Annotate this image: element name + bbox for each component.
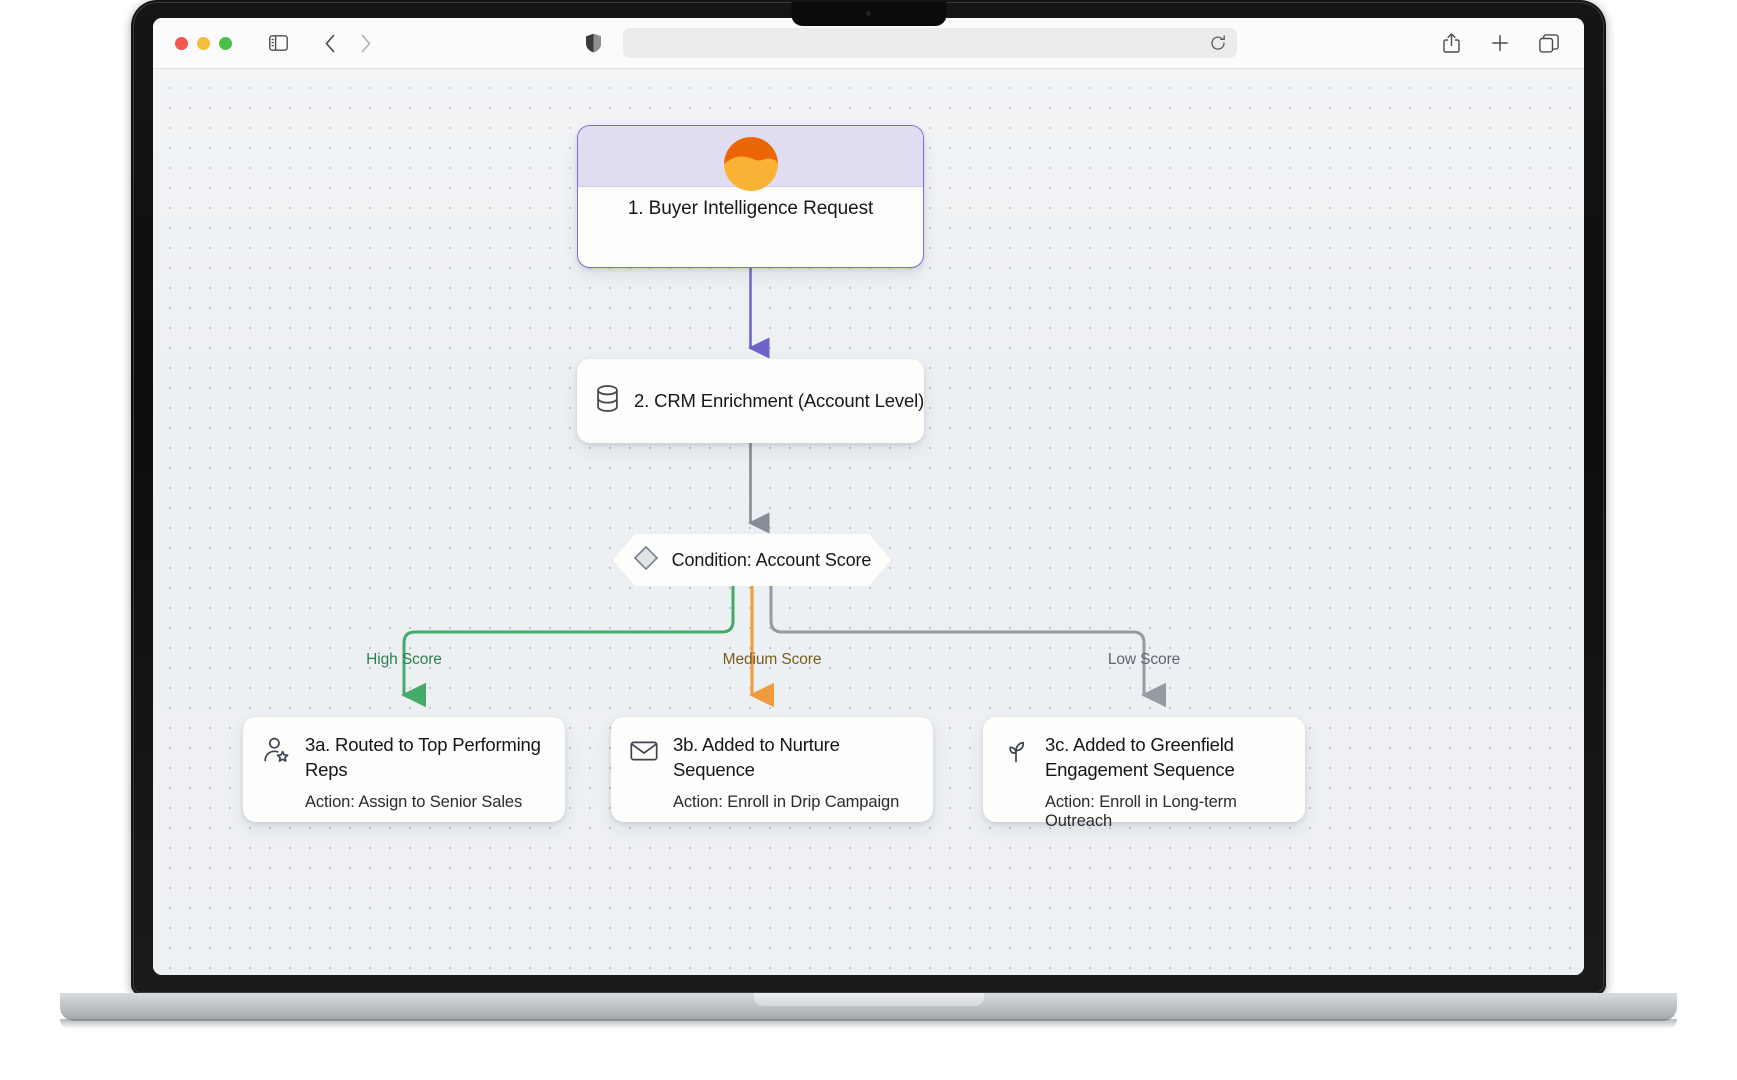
node-action: Action: Enroll in Drip Campaign bbox=[673, 793, 915, 812]
toolbar-right-actions bbox=[1438, 30, 1562, 56]
edge-label-medium-score: Medium Score bbox=[717, 651, 828, 669]
envelope-icon bbox=[629, 733, 659, 822]
new-tab-button[interactable] bbox=[1487, 30, 1513, 56]
screen: 1. Buyer Intelligence Request 2. CRM Enr… bbox=[153, 18, 1584, 975]
display-notch bbox=[791, 2, 946, 26]
laptop-mockup: 1. Buyer Intelligence Request 2. CRM Enr… bbox=[131, 0, 1606, 1000]
outcome-text: 3b. Added to Nurture Sequence Action: En… bbox=[673, 733, 915, 822]
node-crm-enrichment[interactable]: 2. CRM Enrichment (Account Level) bbox=[577, 359, 924, 443]
node-added-to-nurture-sequence[interactable]: 3b. Added to Nurture Sequence Action: En… bbox=[611, 717, 933, 822]
webcam-icon bbox=[866, 11, 871, 16]
node-condition-account-score[interactable]: Condition: Account Score bbox=[613, 534, 891, 586]
node-title: 3c. Added to Greenfield Engagement Seque… bbox=[1045, 733, 1287, 783]
reload-icon[interactable] bbox=[1209, 34, 1227, 52]
sprout-icon bbox=[1001, 733, 1031, 822]
node-title: 2. CRM Enrichment (Account Level) bbox=[634, 390, 924, 412]
brand-circle-logo-icon bbox=[724, 137, 778, 191]
node-title: 3a. Routed to Top Performing Reps bbox=[305, 733, 547, 783]
outcome-text: 3a. Routed to Top Performing Reps Action… bbox=[305, 733, 547, 822]
node-action: Action: Assign to Senior Sales bbox=[305, 793, 547, 812]
edge-label-low-score: Low Score bbox=[1102, 651, 1186, 669]
user-star-icon bbox=[261, 733, 291, 822]
back-button[interactable] bbox=[317, 30, 343, 56]
node-action: Action: Enroll in Long-term Outreach bbox=[1045, 793, 1287, 831]
minimize-window-button[interactable] bbox=[197, 37, 210, 50]
privacy-shield-icon[interactable] bbox=[581, 30, 607, 56]
database-icon bbox=[595, 385, 620, 417]
outcome-text: 3c. Added to Greenfield Engagement Seque… bbox=[1045, 733, 1287, 822]
window-traffic-lights bbox=[175, 37, 232, 50]
flow-diagram: 1. Buyer Intelligence Request 2. CRM Enr… bbox=[153, 69, 1584, 975]
node-routed-to-top-performing-reps[interactable]: 3a. Routed to Top Performing Reps Action… bbox=[243, 717, 565, 822]
address-bar[interactable] bbox=[623, 28, 1237, 58]
close-window-button[interactable] bbox=[175, 37, 188, 50]
sidebar-toggle-icon[interactable] bbox=[265, 30, 291, 56]
flow-canvas[interactable]: 1. Buyer Intelligence Request 2. CRM Enr… bbox=[153, 69, 1584, 975]
forward-button[interactable] bbox=[353, 30, 379, 56]
node-title: 1. Buyer Intelligence Request bbox=[578, 198, 923, 220]
share-icon[interactable] bbox=[1438, 30, 1464, 56]
diamond-icon bbox=[633, 545, 659, 576]
node-added-to-greenfield-engagement-sequence[interactable]: 3c. Added to Greenfield Engagement Seque… bbox=[983, 717, 1305, 822]
tab-overview-icon[interactable] bbox=[1536, 30, 1562, 56]
laptop-shadow bbox=[60, 1019, 1677, 1029]
edge-label-high-score: High Score bbox=[360, 651, 448, 669]
condition-content: Condition: Account Score bbox=[613, 534, 891, 586]
node-buyer-intelligence-request[interactable]: 1. Buyer Intelligence Request bbox=[577, 125, 924, 268]
laptop-lid-notch bbox=[754, 993, 984, 1006]
condition-label: Condition: Account Score bbox=[672, 550, 872, 571]
node-title: 3b. Added to Nurture Sequence bbox=[673, 733, 915, 783]
zoom-window-button[interactable] bbox=[219, 37, 232, 50]
